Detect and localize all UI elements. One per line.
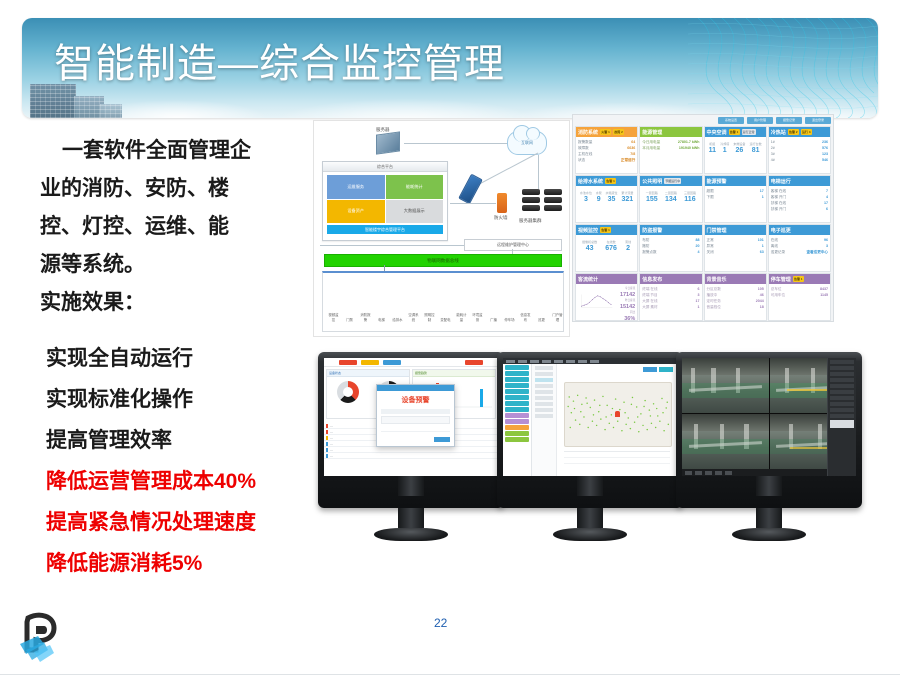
menu-item[interactable] bbox=[530, 360, 539, 363]
server-cluster-label: 服务器集群 bbox=[519, 218, 542, 224]
row-value: 查看巡更中心 bbox=[806, 249, 828, 255]
card-body: 客梯 在线7客梯 开门4扶梯 在线17扶梯 开门6 bbox=[769, 186, 830, 214]
metric-value: 26 bbox=[733, 147, 745, 155]
map-action-button[interactable] bbox=[659, 367, 673, 372]
nav-item[interactable] bbox=[505, 407, 529, 412]
nav-item[interactable] bbox=[505, 437, 529, 442]
row-value: 1145 bbox=[820, 292, 828, 298]
card-title: 门禁管理 bbox=[707, 227, 727, 234]
card-body: 摄像机总数43在线数676离线2 bbox=[576, 235, 637, 255]
cctv-control-button[interactable] bbox=[695, 471, 702, 475]
nav-item[interactable] bbox=[505, 419, 529, 424]
device-item: 照明控制 bbox=[423, 312, 436, 322]
row-label: 报警点数 bbox=[642, 249, 656, 255]
device-item: 信息发布 bbox=[519, 312, 532, 322]
side-panel-preview[interactable] bbox=[830, 420, 854, 428]
building-shape bbox=[30, 84, 76, 118]
stat-value: 36% bbox=[613, 316, 635, 321]
dashboard-card[interactable]: 冷热站告警 2运行 31#2362#5763#1234#546 bbox=[768, 126, 831, 174]
nav-item[interactable] bbox=[505, 431, 529, 436]
device-item: 给排水 bbox=[391, 317, 404, 322]
card-badge: 故障 2 bbox=[613, 129, 624, 135]
floor-plan-view[interactable] bbox=[557, 364, 677, 476]
system-topology-diagram: 服务器 互联网 防火墙 服务器集群 综合平台 运维服务 能耗统计 设备资产 大数… bbox=[313, 120, 570, 337]
camera-tile[interactable] bbox=[682, 414, 769, 469]
data-bus-bar: 物联网数据总线 bbox=[324, 254, 562, 267]
card-row: 可用车位1145 bbox=[771, 292, 828, 298]
card-title: 能源管理 bbox=[642, 129, 662, 136]
device-item: 门户管理 bbox=[551, 312, 564, 322]
card-body: 超限17下限1 bbox=[705, 186, 766, 202]
device-item: 停车场 bbox=[503, 317, 516, 322]
card-row: 状态正常运行 bbox=[578, 157, 635, 163]
card-badge: 告警 1 bbox=[793, 276, 804, 282]
monitor-screen[interactable]: 设备状态 报警趋势 bbox=[324, 358, 498, 476]
row-value: 6 bbox=[826, 206, 828, 212]
metric-value: 321 bbox=[621, 196, 633, 204]
monitor-bezel: 设备状态 报警趋势 bbox=[318, 352, 504, 508]
app-toolbar[interactable] bbox=[324, 358, 498, 367]
traffic-line-chart bbox=[578, 286, 613, 316]
side-panel-row[interactable] bbox=[830, 408, 854, 412]
card-header: 电子巡更 bbox=[769, 225, 830, 235]
dashboard-toolbar: 系统设置 用户管理 报警记录 退出登录 bbox=[575, 117, 831, 124]
card-header: 停车管理告警 1 bbox=[769, 274, 830, 284]
dashboard-card[interactable]: 背景音乐分区总数105播放中46定时任务2044音量档位18 bbox=[704, 273, 767, 321]
dialog-toolbar[interactable] bbox=[381, 409, 450, 414]
effect-bullet-list: 实现全自动运行 实现标准化操作 提高管理效率 降低运营管理成本40% 提高紧急情… bbox=[46, 338, 336, 584]
cctv-control-button[interactable] bbox=[715, 471, 722, 475]
alert-dialog[interactable]: 设备预警 bbox=[376, 384, 455, 447]
card-row: 音量档位18 bbox=[707, 304, 764, 310]
slide-root: 智能制造—综合监控管理 一套软件全面管理企 业的消防、安防、楼 控、灯控、运维、… bbox=[0, 0, 900, 680]
side-panel-row[interactable] bbox=[830, 378, 854, 382]
effect-label: 实施效果： bbox=[40, 284, 320, 322]
remote-center-box: 远程维护管理中心 bbox=[464, 239, 562, 251]
card-row: 大屏 素材1 bbox=[642, 304, 699, 310]
sub-nav-item[interactable] bbox=[535, 414, 553, 418]
metric-value: 676 bbox=[605, 245, 617, 253]
monitor-stand-base bbox=[732, 528, 806, 541]
dashboard-card[interactable]: 门禁管理正常101异常1关闭63 bbox=[704, 224, 767, 272]
nav-item[interactable] bbox=[505, 425, 529, 430]
card-title: 电梯运行 bbox=[771, 178, 791, 185]
paragraph-line: 一套软件全面管理企 bbox=[40, 132, 320, 170]
card-row: 4#546 bbox=[771, 157, 828, 163]
card-row: 扶梯 开门6 bbox=[771, 206, 828, 212]
card-header: 客流统计 bbox=[576, 274, 637, 284]
menu-item[interactable] bbox=[506, 360, 515, 363]
nav-item[interactable] bbox=[505, 413, 529, 418]
dashboard-card[interactable]: 视频监控告警 1摄像机总数43在线数676离线2 bbox=[575, 224, 638, 272]
card-body: 总车位8437可用车位1145 bbox=[769, 284, 830, 300]
module-tile: 大数据展示 bbox=[386, 200, 444, 224]
card-header: 信息发布 bbox=[640, 274, 701, 284]
paragraph-line: 源等系统。 bbox=[40, 246, 320, 284]
panel-header: 设备状态 bbox=[327, 370, 409, 377]
row-value: 正常运行 bbox=[621, 157, 635, 163]
card-badge: 运行 3 bbox=[801, 129, 812, 135]
card-header: 门禁管理 bbox=[705, 225, 766, 235]
sub-nav-item[interactable] bbox=[535, 384, 553, 388]
card-title: 视频监控 bbox=[578, 227, 598, 234]
row-value: 1 bbox=[698, 304, 700, 310]
dashboard-card[interactable]: 消防系统火警 1故障 2报警数量64故障数6636主机在线7/8状态正常运行 bbox=[575, 126, 638, 174]
metric-row: 一层回路155二层回路134三层回路116 bbox=[642, 190, 699, 204]
monitor-bezel bbox=[676, 352, 862, 508]
building-shape bbox=[100, 104, 122, 118]
device-item: 空调系统 bbox=[407, 312, 420, 322]
metric-value: 134 bbox=[665, 196, 677, 204]
cloud-label: 互联网 bbox=[508, 132, 546, 154]
side-panel-row[interactable] bbox=[830, 360, 854, 364]
device-item: 视频监控 bbox=[327, 312, 340, 322]
card-body: 布防88撤防20报警点数4 bbox=[640, 235, 701, 257]
row-label: 本月用电量 bbox=[642, 145, 660, 151]
device-item: 电梯 bbox=[375, 317, 388, 322]
row-label: 巡更记录 bbox=[771, 249, 785, 255]
dashboard-card[interactable]: 能源预警超限17下限1 bbox=[704, 175, 767, 223]
dashboard-card[interactable]: 电梯运行客梯 在线7客梯 开门4扶梯 在线17扶梯 开门6 bbox=[768, 175, 831, 223]
monitor-stand-neck bbox=[577, 508, 603, 528]
dashboard-card[interactable]: 防盗报警布防88撤防20报警点数4 bbox=[639, 224, 702, 272]
metric-row: 摄像机总数43在线数676离线2 bbox=[578, 239, 635, 253]
platform-panel-title: 综合平台 bbox=[323, 162, 447, 172]
card-title: 信息发布 bbox=[642, 276, 662, 283]
row-value: 4 bbox=[698, 249, 700, 255]
platform-modules: 运维服务 能耗统计 设备资产 大数据展示 bbox=[327, 175, 443, 223]
dashboard-card[interactable]: 给排水系统告警 1水池水位3水泵9水箱液位35累计流量321 bbox=[575, 175, 638, 223]
metric-value: 116 bbox=[684, 196, 696, 204]
card-title: 给排水系统 bbox=[578, 178, 603, 185]
server-cluster-icon bbox=[522, 189, 564, 215]
dialog-title: 设备预警 bbox=[377, 395, 454, 405]
toolbar-chip[interactable] bbox=[465, 360, 483, 365]
metric-value: 35 bbox=[606, 196, 618, 204]
row-label: 下限 bbox=[707, 194, 714, 200]
card-body: 今日用电量27801.7 kWh本月用电量191940 kWh bbox=[640, 137, 701, 153]
location-pin-icon[interactable] bbox=[615, 411, 620, 417]
page-title: 智能制造—综合监控管理 bbox=[54, 40, 505, 88]
menu-item[interactable] bbox=[518, 360, 527, 363]
toolbar-chip[interactable] bbox=[361, 360, 379, 365]
metric-value: 81 bbox=[750, 147, 762, 155]
metric-row: 机组11冷却塔1末端设备26运行台数81 bbox=[707, 141, 764, 155]
monitor-neck bbox=[756, 476, 782, 496]
cctv-control-button[interactable] bbox=[685, 471, 692, 475]
panel-header: 报警趋势 bbox=[413, 370, 495, 377]
device-item: 环境监测 bbox=[471, 312, 484, 322]
sub-nav-item[interactable] bbox=[535, 396, 553, 400]
card-row: 报警点数4 bbox=[642, 249, 699, 255]
donut-gauge bbox=[337, 381, 359, 403]
left-nav[interactable] bbox=[503, 364, 532, 476]
device-item: 巡更 bbox=[535, 317, 548, 322]
row-label: 关闭 bbox=[707, 249, 714, 255]
dialog-table-row[interactable] bbox=[381, 426, 450, 432]
bullet-item-highlight: 降低运营管理成本40% bbox=[46, 461, 336, 502]
map-data-table[interactable] bbox=[564, 451, 669, 472]
side-panel-row[interactable] bbox=[830, 396, 854, 400]
topology-node-label: 服务器 bbox=[376, 127, 390, 133]
card-badge: 告警 1 bbox=[600, 227, 611, 233]
row-label: 扶梯 开门 bbox=[771, 206, 786, 212]
card-row: 下限1 bbox=[707, 194, 764, 200]
monitor-neck bbox=[577, 476, 603, 496]
monitor-bezel bbox=[497, 352, 683, 508]
cctv-control-button[interactable] bbox=[705, 471, 712, 475]
cloud-icon: 互联网 bbox=[507, 131, 547, 155]
platform-panel: 综合平台 运维服务 能耗统计 设备资产 大数据展示 智能楼宇综合管理平台 bbox=[322, 161, 448, 241]
dashboard-card[interactable]: 客流统计今日客流17142昨日客流15142同比36% bbox=[575, 273, 638, 321]
row-value: 63 bbox=[760, 249, 764, 255]
nav-item[interactable] bbox=[505, 365, 529, 370]
card-body: 一层回路155二层回路134三层回路116 bbox=[640, 186, 701, 206]
card-header: 防盗报警 bbox=[640, 225, 701, 235]
monitor-neck bbox=[398, 476, 424, 496]
dashboard-card[interactable]: 信息发布终端 在线6终端 节目3大屏 在线17大屏 素材1 bbox=[639, 273, 702, 321]
card-body: 报警数量64故障数6636主机在线7/8状态正常运行 bbox=[576, 137, 637, 165]
bullet-item: 实现标准化操作 bbox=[46, 379, 336, 420]
card-title: 中央空调 bbox=[707, 129, 727, 136]
metric-value: 2 bbox=[625, 245, 631, 253]
bullet-item: 提高管理效率 bbox=[46, 420, 336, 461]
monitor-stand-neck bbox=[756, 508, 782, 528]
nav-item[interactable] bbox=[505, 389, 529, 394]
nav-item[interactable] bbox=[505, 377, 529, 382]
card-row: 关闭63 bbox=[707, 249, 764, 255]
device-item: 广播 bbox=[487, 317, 500, 322]
nav-item[interactable] bbox=[505, 371, 529, 376]
metric-row: 水池水位3水泵9水箱液位35累计流量321 bbox=[578, 190, 635, 204]
card-row: 本月用电量191940 kWh bbox=[642, 145, 699, 151]
toolbar-chip[interactable] bbox=[339, 360, 357, 365]
row-label: 状态 bbox=[578, 157, 585, 163]
monitor-stand-neck bbox=[398, 508, 424, 528]
module-tile: 运维服务 bbox=[327, 175, 385, 199]
connector-line bbox=[450, 203, 496, 204]
card-body: 机组11冷却塔1末端设备26运行台数81 bbox=[705, 137, 766, 157]
toolbar-button[interactable]: 系统设置 bbox=[718, 117, 744, 124]
toolbar-button[interactable]: 退出登录 bbox=[805, 117, 831, 124]
monitor-stand-base bbox=[374, 528, 448, 541]
card-title: 公共照明 bbox=[642, 178, 662, 185]
module-tile: 能耗统计 bbox=[386, 175, 444, 199]
card-badge: 告警 1 bbox=[605, 178, 616, 184]
monitor-screen[interactable] bbox=[503, 358, 677, 476]
card-title: 背景音乐 bbox=[707, 276, 727, 283]
dashboard-card[interactable]: 公共照明节能运行中一层回路155二层回路134三层回路116 bbox=[639, 175, 702, 223]
sub-nav-item-selected[interactable] bbox=[535, 378, 553, 382]
card-badge: 告警 1 bbox=[729, 129, 740, 135]
topology-node-label: 防火墙 bbox=[494, 215, 508, 221]
company-logo bbox=[14, 612, 76, 664]
wireframe-mesh-graphic bbox=[688, 18, 878, 118]
sub-nav-item[interactable] bbox=[535, 366, 553, 370]
server-icon bbox=[376, 131, 400, 154]
sub-nav-item[interactable] bbox=[535, 390, 553, 394]
card-header: 公共照明节能运行中 bbox=[640, 176, 701, 186]
monitor-map bbox=[497, 352, 683, 541]
metric-value: 9 bbox=[596, 196, 602, 204]
floor-plan-canvas[interactable] bbox=[564, 382, 671, 447]
card-badge: 火警 1 bbox=[600, 129, 611, 135]
row-value: 1 bbox=[762, 194, 764, 200]
card-row: 巡更记录查看巡更中心 bbox=[771, 249, 828, 255]
toolbar-button[interactable]: 用户管理 bbox=[747, 117, 773, 124]
dashboard-card[interactable]: 中央空调告警 1运行正常机组11冷却塔1末端设备26运行台数81 bbox=[704, 126, 767, 174]
device-row: 视频监控 门禁 消防报警 电梯 给排水 空调系统 照明控制 变配电 能耗计量 环… bbox=[322, 271, 564, 332]
metric-value: 11 bbox=[709, 147, 716, 155]
card-body: 水池水位3水泵9水箱液位35累计流量321 bbox=[576, 186, 637, 206]
sub-nav-item[interactable] bbox=[535, 408, 553, 412]
row-value: 18 bbox=[760, 304, 764, 310]
dialog-confirm-button[interactable] bbox=[434, 437, 450, 442]
paragraph-line: 控、灯控、运维、能 bbox=[40, 208, 320, 246]
dialog-titlebar bbox=[377, 385, 454, 391]
table-row[interactable]: — bbox=[324, 453, 498, 459]
footer-divider bbox=[0, 674, 900, 675]
card-title: 防盗报警 bbox=[642, 227, 662, 234]
card-header: 冷热站告警 2运行 3 bbox=[769, 127, 830, 137]
card-header: 能源管理 bbox=[640, 127, 701, 137]
metric-value: 155 bbox=[646, 196, 658, 204]
metric-value: 43 bbox=[582, 245, 597, 253]
bullet-item: 实现全自动运行 bbox=[46, 338, 336, 379]
dashboard-card-grid: 消防系统火警 1故障 2报警数量64故障数6636主机在线7/8状态正常运行能源… bbox=[575, 126, 831, 321]
bullet-item-highlight: 提高紧急情况处理速度 bbox=[46, 502, 336, 543]
card-body: 在线96离线3巡更记录查看巡更中心 bbox=[769, 235, 830, 257]
metric-value: 3 bbox=[580, 196, 592, 204]
dashboard-card[interactable]: 能源管理今日用电量27801.7 kWh本月用电量191940 kWh bbox=[639, 126, 702, 174]
cctv-side-panel[interactable] bbox=[827, 358, 856, 476]
header-banner: 智能制造—综合监控管理 bbox=[22, 18, 878, 118]
toolbar-button[interactable]: 报警记录 bbox=[776, 117, 802, 124]
card-header: 视频监控告警 1 bbox=[576, 225, 637, 235]
side-panel-row[interactable] bbox=[830, 372, 854, 376]
firewall-icon bbox=[497, 193, 507, 213]
row-label: 4# bbox=[771, 157, 775, 163]
card-header: 消防系统火警 1故障 2 bbox=[576, 127, 637, 137]
card-header: 电梯运行 bbox=[769, 176, 830, 186]
card-title: 客流统计 bbox=[578, 276, 598, 283]
menu-item[interactable] bbox=[542, 360, 551, 363]
camera-tile[interactable] bbox=[682, 358, 769, 413]
row-label: 大屏 素材 bbox=[642, 304, 657, 310]
dialog-table-header bbox=[381, 416, 450, 424]
map-action-button[interactable] bbox=[643, 367, 657, 372]
nav-item[interactable] bbox=[505, 383, 529, 388]
card-body: 今日客流17142昨日客流15142同比36% bbox=[576, 284, 637, 321]
side-panel-row[interactable] bbox=[830, 384, 854, 388]
card-header: 给排水系统告警 1 bbox=[576, 176, 637, 186]
sub-nav-item[interactable] bbox=[535, 402, 553, 406]
side-panel-row[interactable] bbox=[830, 402, 854, 406]
card-body: 分区总数105播放中46定时任务2044音量档位18 bbox=[705, 284, 766, 312]
nav-item[interactable] bbox=[505, 401, 529, 406]
dashboard-card[interactable]: 停车管理告警 1总车位8437可用车位1145 bbox=[768, 273, 831, 321]
card-badge: 运行正常 bbox=[742, 129, 756, 135]
monitor-screen[interactable] bbox=[682, 358, 856, 476]
card-header: 背景音乐 bbox=[705, 274, 766, 284]
cctv-control-button[interactable] bbox=[725, 471, 732, 475]
page-number: 22 bbox=[434, 616, 447, 630]
paragraph-line: 业的消防、安防、楼 bbox=[40, 170, 320, 208]
bullet-item-highlight: 降低能源消耗5% bbox=[46, 543, 336, 584]
device-item: 消防报警 bbox=[359, 312, 372, 322]
card-badge: 告警 2 bbox=[788, 129, 799, 135]
row-value: 546 bbox=[822, 157, 828, 163]
card-header: 中央空调告警 1运行正常 bbox=[705, 127, 766, 137]
side-panel-row[interactable] bbox=[830, 366, 854, 370]
menu-item[interactable] bbox=[554, 360, 563, 363]
device-item: 门禁 bbox=[343, 317, 356, 322]
monitor-operations: 设备状态 报警趋势 bbox=[318, 352, 504, 541]
description-paragraph: 一套软件全面管理企 业的消防、安防、楼 控、灯控、运维、能 源等系统。 实施效果… bbox=[40, 132, 320, 322]
card-title: 消防系统 bbox=[578, 129, 598, 136]
row-label: 可用车位 bbox=[771, 292, 785, 298]
sub-nav[interactable] bbox=[532, 364, 557, 476]
device-item: 能耗计量 bbox=[455, 312, 468, 322]
card-header: 能源预警 bbox=[705, 176, 766, 186]
monitor-cctv bbox=[676, 352, 862, 541]
toolbar-chip[interactable] bbox=[383, 360, 401, 365]
menu-item[interactable] bbox=[566, 360, 575, 363]
row-value: 191940 kWh bbox=[679, 145, 700, 151]
device-item: 变配电 bbox=[439, 317, 452, 322]
app-body bbox=[503, 364, 677, 476]
card-badge: 节能运行中 bbox=[664, 178, 681, 184]
menu-item[interactable] bbox=[590, 360, 599, 363]
monitor-stand-base bbox=[553, 528, 627, 541]
card-body: 1#2362#5763#1234#546 bbox=[769, 137, 830, 165]
card-title: 电子巡更 bbox=[771, 227, 791, 234]
side-panel-row[interactable] bbox=[830, 414, 854, 418]
card-title: 停车管理 bbox=[771, 276, 791, 283]
nav-item[interactable] bbox=[505, 395, 529, 400]
card-title: 冷热站 bbox=[771, 129, 786, 136]
menu-item[interactable] bbox=[578, 360, 587, 363]
monitoring-dashboard: 系统设置 用户管理 报警记录 退出登录 消防系统火警 1故障 2报警数量64故障… bbox=[572, 114, 834, 322]
platform-footer-bar: 智能楼宇综合管理平台 bbox=[327, 225, 443, 234]
side-panel-row[interactable] bbox=[830, 390, 854, 394]
dashboard-card[interactable]: 电子巡更在线96离线3巡更记录查看巡更中心 bbox=[768, 224, 831, 272]
card-body: 正常101异常1关闭63 bbox=[705, 235, 766, 257]
connector-line bbox=[404, 143, 516, 144]
sub-nav-item[interactable] bbox=[535, 372, 553, 376]
card-title: 能源预警 bbox=[707, 178, 727, 185]
module-tile: 设备资产 bbox=[327, 200, 385, 224]
metric-value: 1 bbox=[720, 147, 729, 155]
row-label: 音量档位 bbox=[707, 304, 721, 310]
card-body: 终端 在线6终端 节目3大屏 在线17大屏 素材1 bbox=[640, 284, 701, 312]
